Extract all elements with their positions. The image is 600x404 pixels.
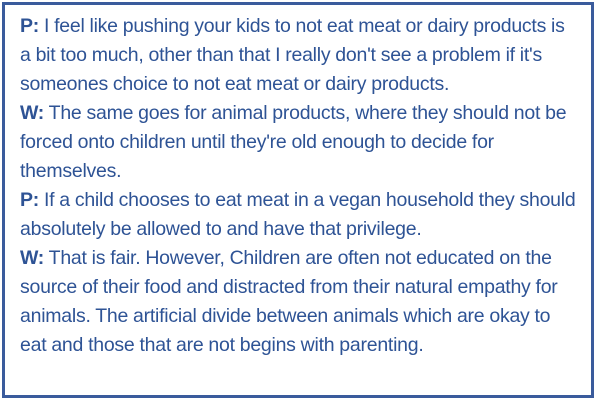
transcript-body: P: I feel like pushing your kids to not … bbox=[5, 5, 591, 360]
utterance-text: The same goes for animal products, where… bbox=[20, 102, 571, 182]
transcript-box: P: I feel like pushing your kids to not … bbox=[2, 2, 594, 398]
transcript-turn: P: I feel like pushing your kids to not … bbox=[20, 12, 577, 99]
speaker-label: W: bbox=[20, 102, 44, 124]
utterance-text: That is fair. However, Children are ofte… bbox=[20, 247, 563, 356]
speaker-label: W: bbox=[20, 247, 44, 269]
transcript-turn: W: That is fair. However, Children are o… bbox=[20, 244, 577, 360]
transcript-turn: W: The same goes for animal products, wh… bbox=[20, 99, 577, 186]
speaker-label: P: bbox=[20, 15, 39, 37]
utterance-text: I feel like pushing your kids to not eat… bbox=[20, 15, 570, 95]
speaker-label: P: bbox=[20, 189, 39, 211]
transcript-turn: P: If a child chooses to eat meat in a v… bbox=[20, 186, 577, 244]
utterance-text: If a child chooses to eat meat in a vega… bbox=[20, 189, 580, 240]
